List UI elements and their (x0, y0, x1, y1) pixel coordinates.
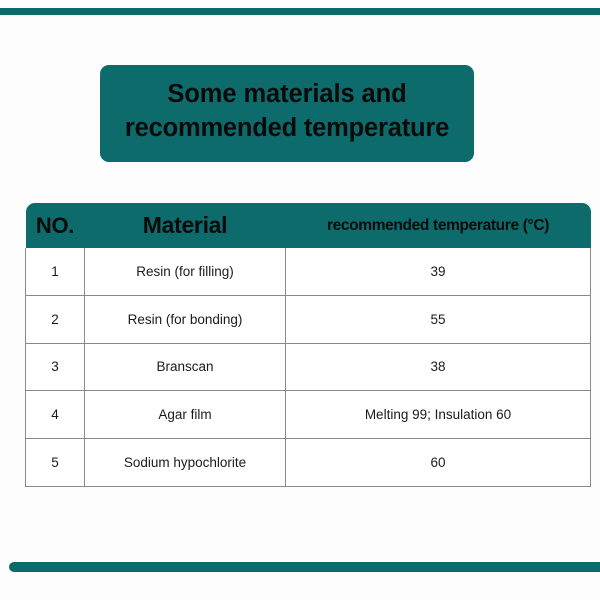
cell-no: 5 (26, 439, 85, 487)
cell-material: Agar film (85, 391, 286, 439)
cell-no: 3 (26, 343, 85, 391)
slide-title-plate: Some materials and recommended temperatu… (100, 65, 474, 162)
cell-material: Resin (for bonding) (85, 295, 286, 343)
materials-table-container: NO. Material recommended temperature (°C… (25, 203, 578, 487)
table-row: 2 Resin (for bonding) 55 (26, 295, 591, 343)
cell-temperature: 55 (286, 295, 591, 343)
table-row: 3 Branscan 38 (26, 343, 591, 391)
page-title-line-1: Some materials and (167, 78, 406, 112)
page-title-line-2: recommended temperature (125, 112, 449, 146)
cell-material: Branscan (85, 343, 286, 391)
table-row: 5 Sodium hypochlorite 60 (26, 439, 591, 487)
table-row: 4 Agar film Melting 99; Insulation 60 (26, 391, 591, 439)
cell-no: 2 (26, 295, 85, 343)
cell-temperature: 39 (286, 248, 591, 295)
column-header-material: Material (85, 203, 286, 248)
table-header-row: NO. Material recommended temperature (°C… (26, 203, 591, 248)
cell-temperature: 38 (286, 343, 591, 391)
materials-table: NO. Material recommended temperature (°C… (25, 203, 591, 487)
table-header: NO. Material recommended temperature (°C… (26, 203, 591, 248)
cell-material: Resin (for filling) (85, 248, 286, 295)
cell-material: Sodium hypochlorite (85, 439, 286, 487)
table-body: 1 Resin (for filling) 39 2 Resin (for bo… (26, 248, 591, 486)
top-accent-bar (0, 8, 600, 15)
column-header-no: NO. (26, 203, 85, 248)
column-header-temperature: recommended temperature (°C) (286, 203, 591, 248)
bottom-accent-bar (9, 562, 600, 572)
cell-temperature: Melting 99; Insulation 60 (286, 391, 591, 439)
cell-no: 1 (26, 248, 85, 295)
table-row: 1 Resin (for filling) 39 (26, 248, 591, 295)
cell-temperature: 60 (286, 439, 591, 487)
cell-no: 4 (26, 391, 85, 439)
